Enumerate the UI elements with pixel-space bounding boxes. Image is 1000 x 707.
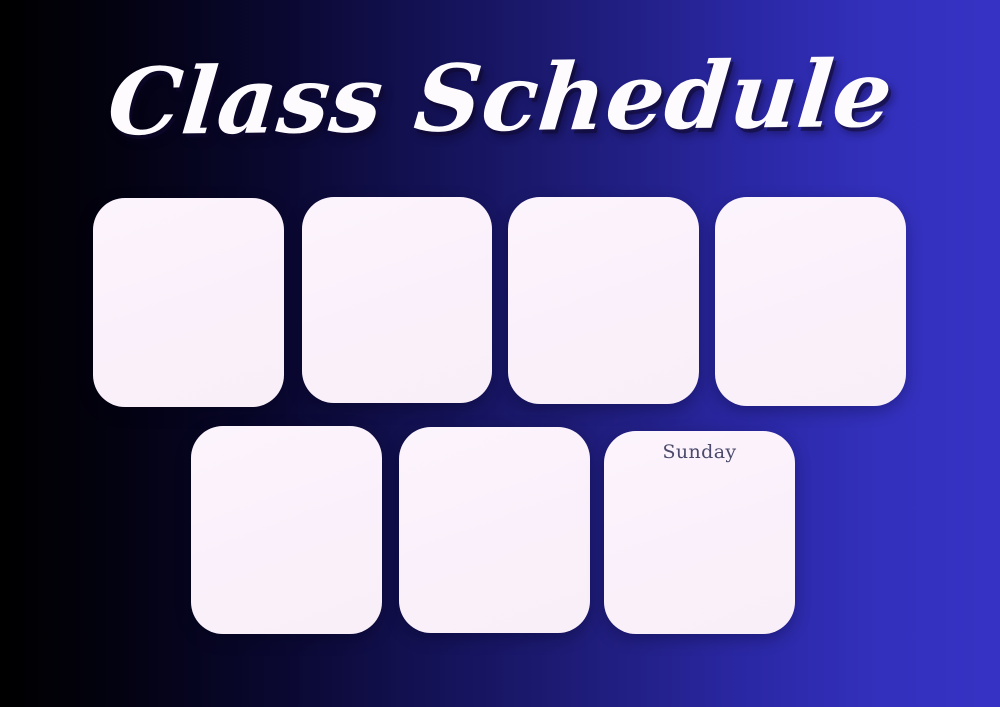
class-schedule-poster: Class Schedule Monday Tuesday Wednesday …: [0, 0, 1000, 707]
day-card-sunday[interactable]: Sunday: [604, 431, 795, 634]
day-label-monday: Monday: [93, 405, 284, 407]
day-card-thursday[interactable]: Thursday: [715, 197, 906, 406]
day-card-monday[interactable]: Monday: [93, 198, 284, 407]
day-card-saturday[interactable]: Saturday: [399, 427, 590, 633]
page-title: Class Schedule: [104, 48, 897, 148]
day-label-thursday: Thursday: [715, 404, 906, 406]
day-card-wednesday[interactable]: Wednesday: [508, 197, 699, 404]
title-container: Class Schedule: [0, 52, 1000, 144]
day-label-sunday: Sunday: [604, 441, 795, 463]
day-card-tuesday[interactable]: Tuesday: [302, 197, 492, 403]
day-card-friday[interactable]: Friday: [191, 426, 382, 634]
